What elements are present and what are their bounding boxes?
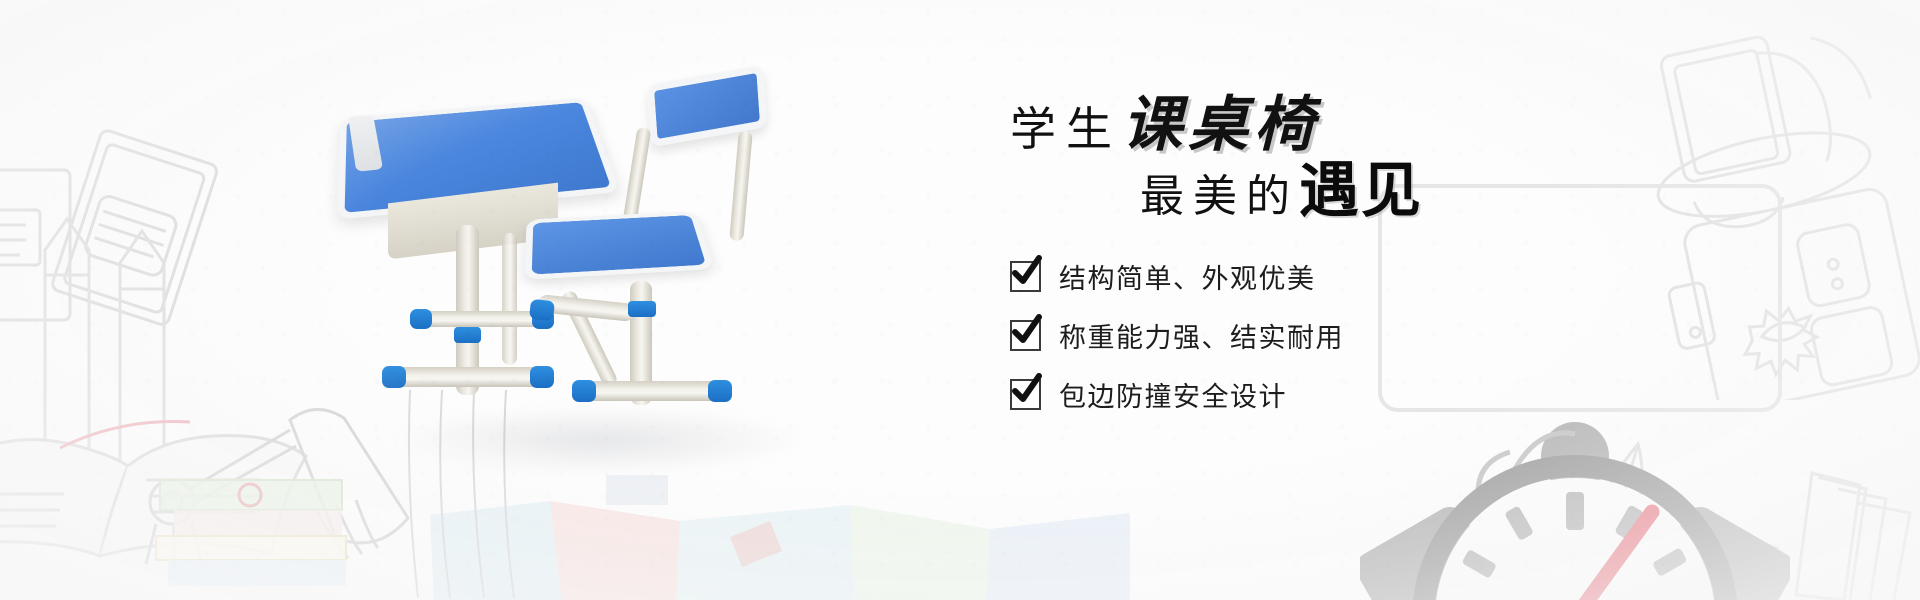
feature-list: 结构简单、外观优美 称重能力强、结实耐用 包边防撞安全设计 <box>1010 257 1630 414</box>
chair-back-strut-right <box>729 131 753 242</box>
headline-line-1: 学生课桌椅 <box>1010 95 1320 155</box>
chair-post-collar <box>628 301 656 317</box>
chair-foot-cap-left <box>572 380 596 402</box>
headline-subtitle: 最美的 <box>1140 172 1299 221</box>
feature-item: 包边防撞安全设计 <box>1010 375 1630 414</box>
promo-banner: 学生课桌椅 最美的遇见 结构简单、外观优美 <box>0 0 1920 600</box>
feature-item: 结构简单、外观优美 <box>1010 257 1630 296</box>
chair-front-bar-cap <box>529 299 555 321</box>
feature-label: 称重能力强、结实耐用 <box>1059 316 1344 355</box>
chair-seat-panel <box>524 211 715 280</box>
product-shadow <box>390 405 810 475</box>
chair-foot-cap-right <box>708 380 732 402</box>
desk-foot-cap-right <box>530 366 554 388</box>
feature-label: 包边防撞安全设计 <box>1059 375 1287 414</box>
desk-foot-bar <box>388 367 548 387</box>
check-icon <box>1010 320 1041 351</box>
feature-item: 称重能力强、结实耐用 <box>1010 316 1630 355</box>
headline-prefix: 学生 <box>1010 104 1122 155</box>
chair-back-strut-left <box>623 126 652 223</box>
desk-cross-bar <box>416 311 548 327</box>
feature-label: 结构简单、外观优美 <box>1059 257 1316 296</box>
headline-product: 课桌椅 <box>1122 92 1320 158</box>
desk-height-adjust-collar <box>454 327 481 343</box>
headline-line-2: 最美的遇见 <box>1140 161 1423 221</box>
student-desk-and-chair-photo <box>330 75 850 505</box>
check-icon <box>1010 261 1041 292</box>
marketing-copy: 学生课桌椅 最美的遇见 结构简单、外观优美 <box>1010 95 1630 434</box>
check-icon <box>1010 379 1041 410</box>
chair-foot-bar <box>578 381 726 401</box>
desk-cross-cap-left <box>410 309 432 329</box>
desk-rear-post <box>502 233 517 365</box>
headline: 学生课桌椅 最美的遇见 <box>1010 95 1630 235</box>
headline-emphasis: 遇见 <box>1299 157 1423 224</box>
desk-foot-cap-left <box>382 366 406 388</box>
book-fan-line-art <box>1790 455 1920 600</box>
